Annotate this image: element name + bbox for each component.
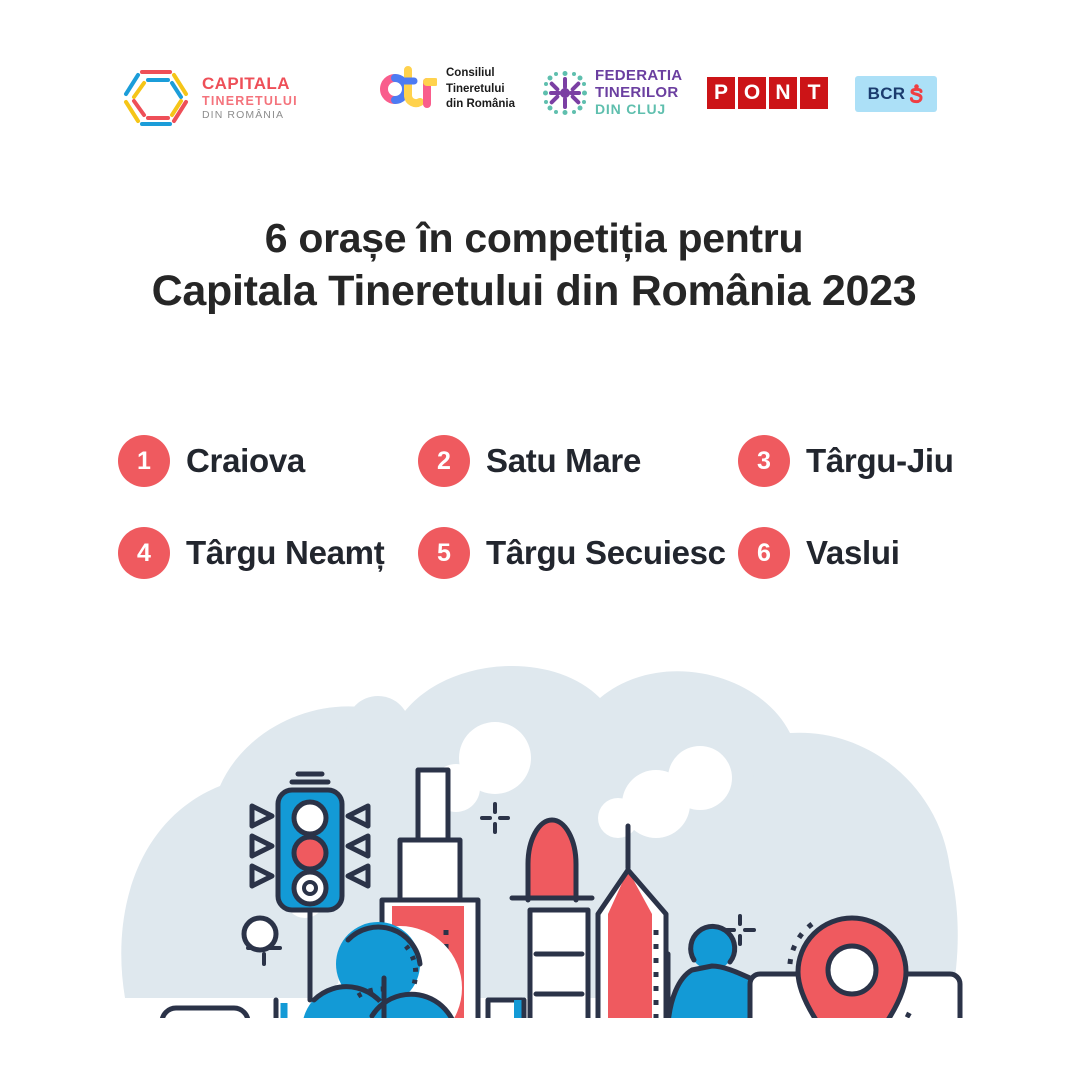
capitala-line3: DIN ROMÂNIA bbox=[202, 109, 298, 121]
pont-letter-p: P bbox=[707, 77, 735, 109]
parking-sign: P bbox=[162, 1008, 290, 1018]
city-number-badge: 1 bbox=[118, 435, 170, 487]
title-line-1: 6 orașe în competiția pentru bbox=[0, 212, 1068, 264]
logo-pont: P O N T bbox=[707, 77, 828, 109]
logo-consiliul-tineretului: Consiliul Tineretului din România bbox=[375, 66, 515, 113]
federatia-line2: TINERILOR bbox=[595, 85, 682, 102]
pont-letter-o: O bbox=[738, 77, 766, 109]
city-name: Vaslui bbox=[806, 534, 900, 572]
hexagon-logo-icon bbox=[120, 64, 192, 132]
list-item: 5 Târgu Secuiesc bbox=[418, 517, 738, 589]
list-item: 4 Târgu Neamț bbox=[118, 517, 418, 589]
pont-letter-n: N bbox=[769, 77, 797, 109]
city-number-badge: 2 bbox=[418, 435, 470, 487]
logo-capitala-tineretului: CAPITALA TINERETULUI DIN ROMÂNIA bbox=[120, 64, 298, 132]
city-name: Craiova bbox=[186, 442, 305, 480]
snowflake-dots-icon bbox=[543, 71, 587, 115]
city-number-badge: 4 bbox=[118, 527, 170, 579]
capitala-line1: CAPITALA bbox=[202, 74, 298, 94]
ctr-line2: Tineretului bbox=[446, 82, 515, 98]
ctr-wordmark-icon bbox=[375, 66, 437, 112]
capitala-wordmark: CAPITALA TINERETULUI DIN ROMÂNIA bbox=[202, 74, 298, 121]
city-illustration: .ink { stroke:#2b3348; stroke-width:5; f… bbox=[100, 618, 980, 1018]
federatia-line3: DIN CLUJ bbox=[595, 102, 682, 118]
ctr-line3: din România bbox=[446, 97, 515, 113]
list-item: 6 Vaslui bbox=[738, 517, 978, 589]
logo-bar: CAPITALA TINERETULUI DIN ROMÂNIA Consili… bbox=[0, 58, 1068, 138]
pont-letter-t: T bbox=[800, 77, 828, 109]
logo-federatia-tinerilor: FEDERATIA TINERILOR DIN CLUJ bbox=[543, 68, 682, 117]
list-item: 2 Satu Mare bbox=[418, 425, 738, 497]
city-name: Târgu Secuiesc bbox=[486, 534, 726, 572]
city-name: Târgu Neamț bbox=[186, 534, 384, 572]
logo-bcr: BCR bbox=[855, 76, 937, 112]
bcr-s-mark-icon bbox=[909, 84, 924, 104]
city-list: 1 Craiova 2 Satu Mare 3 Târgu-Jiu 4 Târg… bbox=[118, 425, 978, 589]
page-title: 6 orașe în competiția pentru Capitala Ti… bbox=[0, 212, 1068, 320]
list-item: 3 Târgu-Jiu bbox=[738, 425, 978, 497]
ctr-subtitle: Consiliul Tineretului din România bbox=[446, 66, 515, 113]
title-line-2: Capitala Tineretului din România 2023 bbox=[0, 264, 1068, 319]
federatia-wordmark: FEDERATIA TINERILOR DIN CLUJ bbox=[595, 68, 682, 117]
city-number-badge: 5 bbox=[418, 527, 470, 579]
city-name: Târgu-Jiu bbox=[806, 442, 954, 480]
bcr-text: BCR bbox=[868, 84, 906, 104]
city-number-badge: 3 bbox=[738, 435, 790, 487]
capitala-line2: TINERETULUI bbox=[202, 94, 298, 109]
city-number-badge: 6 bbox=[738, 527, 790, 579]
list-item: 1 Craiova bbox=[118, 425, 418, 497]
federatia-line1: FEDERATIA bbox=[595, 68, 682, 85]
building-slim bbox=[488, 1000, 524, 1018]
ctr-line1: Consiliul bbox=[446, 66, 515, 82]
city-name: Satu Mare bbox=[486, 442, 641, 480]
